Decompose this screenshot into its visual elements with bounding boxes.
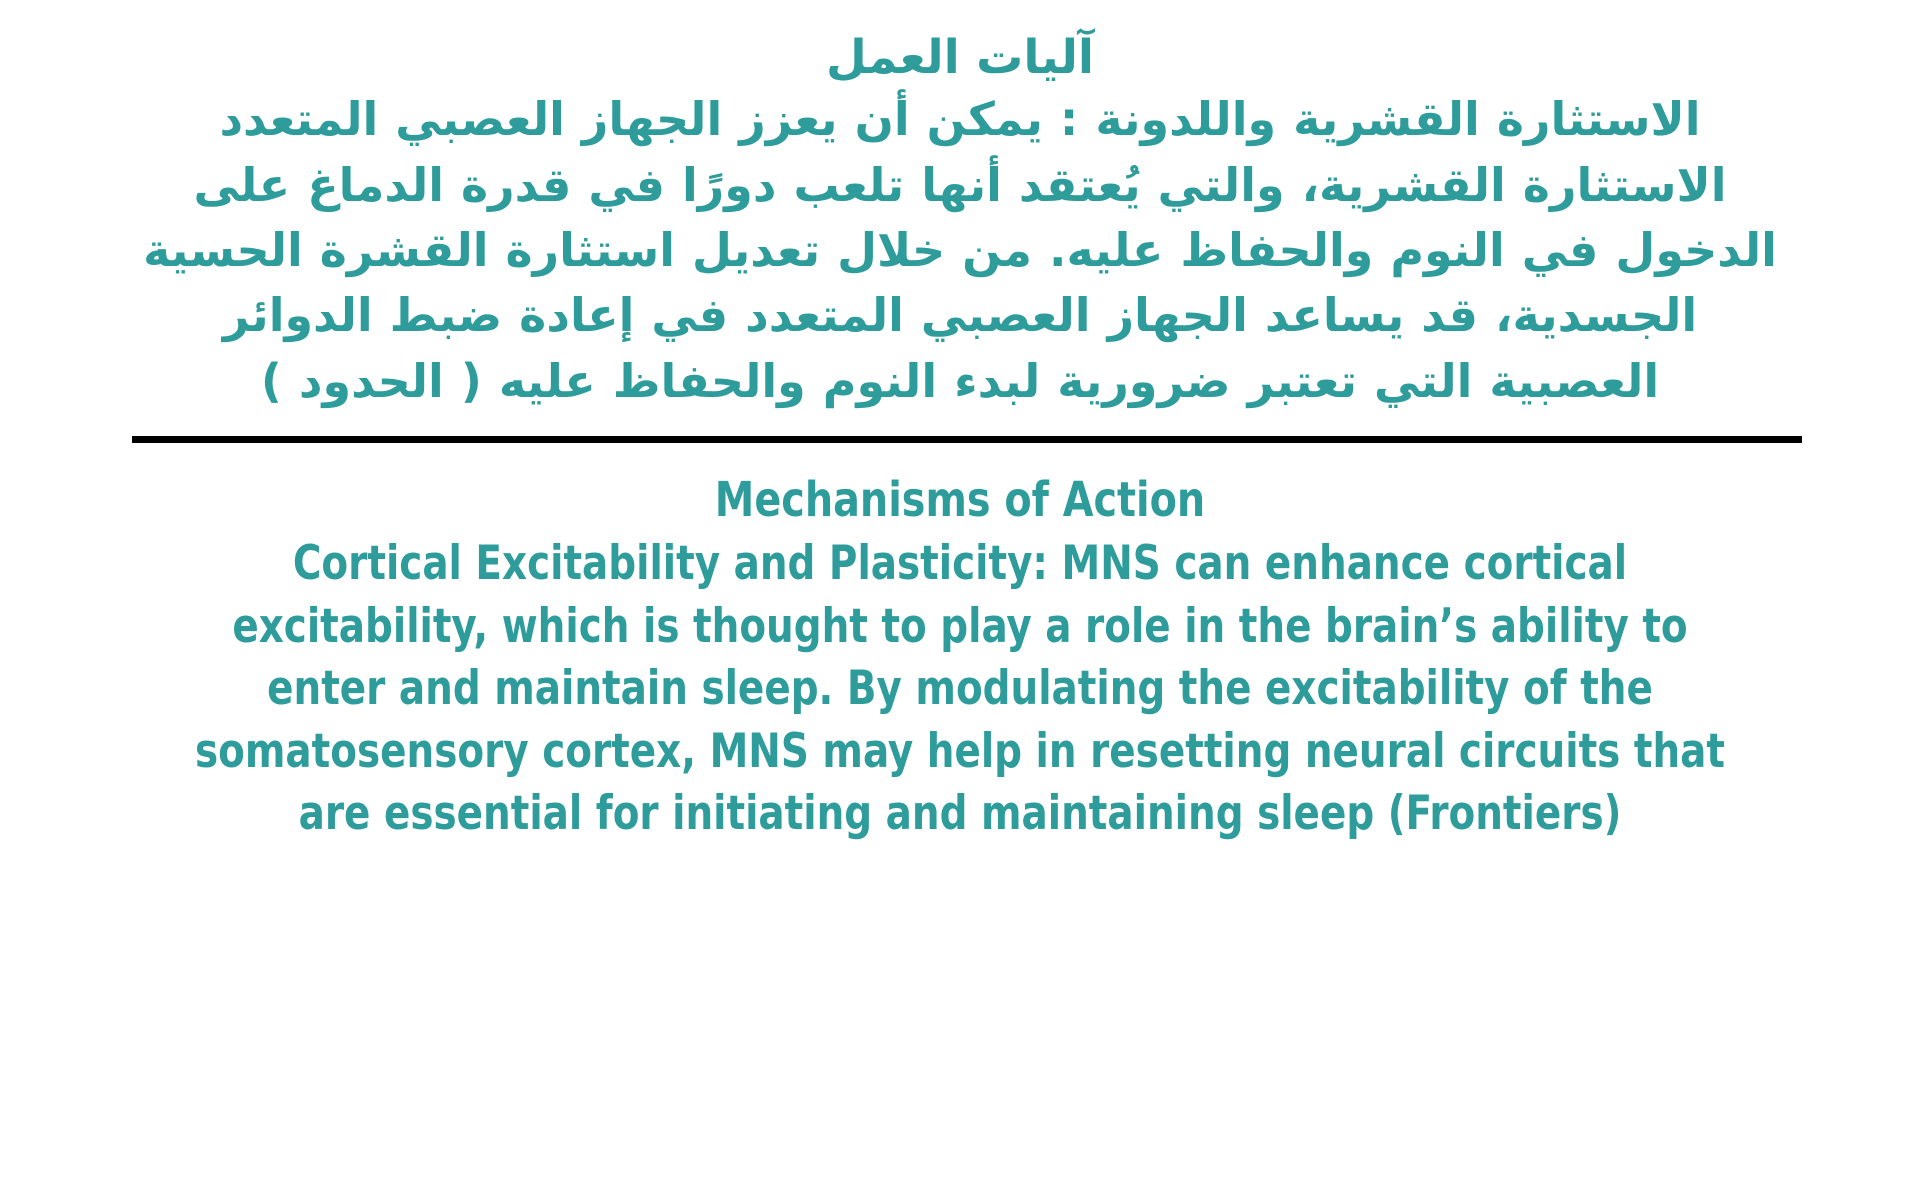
arabic-section: آليات العمل الاستثارة القشرية واللدونة :…	[0, 0, 1920, 414]
english-paragraph: Cortical Excitability and Plasticity: MN…	[187, 533, 1733, 846]
english-heading: Mechanisms of Action	[187, 469, 1733, 531]
section-separator	[132, 436, 1802, 443]
english-section: Mechanisms of Action Cortical Excitabili…	[0, 443, 1920, 846]
arabic-heading: آليات العمل	[140, 30, 1780, 85]
arabic-paragraph: الاستثارة القشرية واللدونة : يمكن أن يعز…	[140, 87, 1780, 414]
slide-root: آليات العمل الاستثارة القشرية واللدونة :…	[0, 0, 1920, 1200]
divider-container	[0, 414, 1920, 443]
